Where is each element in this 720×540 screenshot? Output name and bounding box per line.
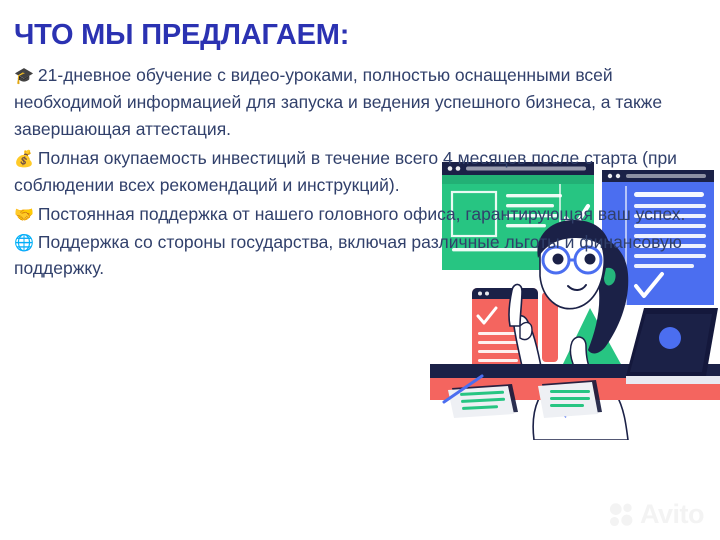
benefit-item-roi: 💰Полная окупаемость инвестиций в течение… — [14, 145, 704, 198]
benefit-text-government: Поддержка со стороны государства, включа… — [14, 232, 682, 279]
benefit-item-support: 🤝Постоянная поддержка от нашего головног… — [14, 201, 704, 228]
avito-watermark: Avito — [608, 501, 704, 528]
avito-wordmark: Avito — [640, 501, 704, 528]
graduation-cap-icon: 🎓 — [14, 66, 34, 85]
benefit-text-roi: Полная окупаемость инвестиций в течение … — [14, 148, 677, 195]
benefit-text-training: 21-дневное обучение с видео-уроками, пол… — [14, 65, 662, 138]
globe-icon: 🌐 — [14, 233, 34, 252]
benefit-text-support: Постоянная поддержка от нашего головного… — [38, 204, 685, 224]
page-title: ЧТО МЫ ПРЕДЛАГАЕМ: — [14, 20, 704, 51]
handshake-icon: 🤝 — [14, 205, 34, 224]
benefit-item-training: 🎓21-дневное обучение с видео-уроками, по… — [14, 62, 704, 142]
benefit-item-government: 🌐Поддержка со стороны государства, включ… — [14, 229, 704, 282]
promo-slide: ЧТО МЫ ПРЕДЛАГАЕМ: 🎓21-дневное обучение … — [0, 0, 720, 540]
avito-circles-logo — [608, 502, 634, 528]
text-column: ЧТО МЫ ПРЕДЛАГАЕМ: 🎓21-дневное обучение … — [0, 0, 720, 540]
money-bag-icon: 💰 — [14, 149, 34, 168]
